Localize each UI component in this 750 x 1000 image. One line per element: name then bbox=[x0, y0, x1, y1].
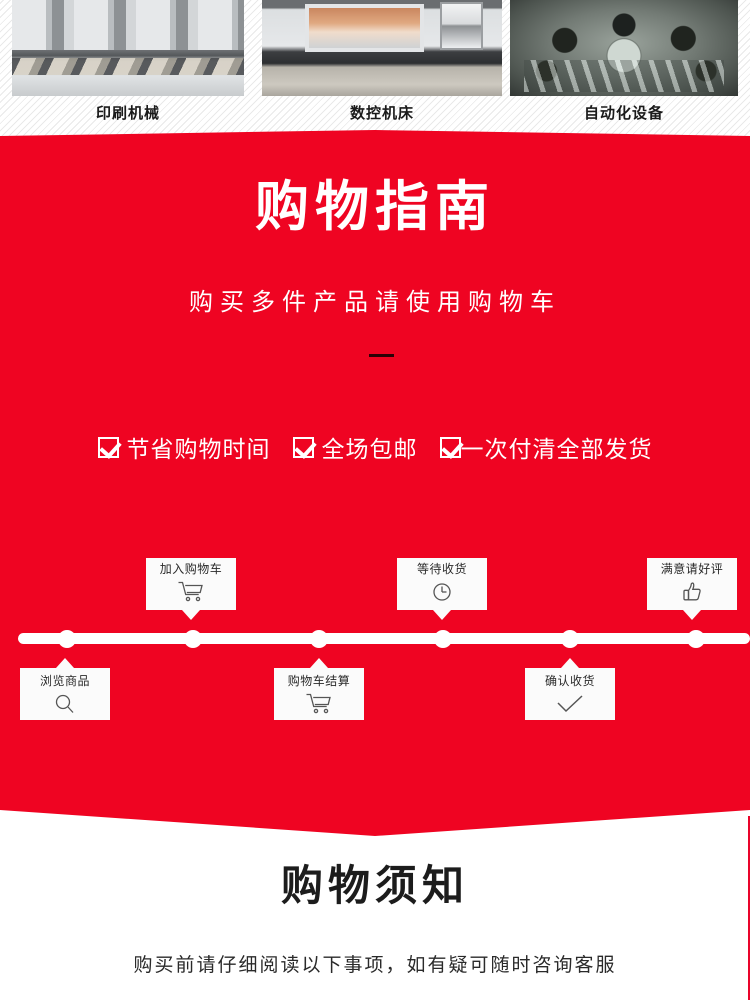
pointer-arrow bbox=[561, 658, 579, 668]
timeline-step-confirm-receipt[interactable]: 确认收货 bbox=[525, 668, 615, 720]
timeline-step-label: 等待收货 bbox=[397, 563, 487, 576]
feature-item-free-shipping: 全场包邮 bbox=[293, 430, 418, 464]
checkmark-icon bbox=[440, 437, 461, 458]
page-subtitle: 购买多件产品请使用购物车 bbox=[0, 288, 750, 317]
timeline-node bbox=[687, 630, 705, 648]
feature-label: 节省购物时间 bbox=[127, 430, 271, 464]
pointer-arrow bbox=[310, 658, 328, 668]
timeline-step-browse-products[interactable]: 浏览商品 bbox=[20, 668, 110, 720]
shopping-cart-icon bbox=[274, 691, 364, 717]
pointer-arrow bbox=[182, 610, 200, 620]
timeline-node bbox=[561, 630, 579, 648]
product-card-printing[interactable]: 印刷机械 bbox=[12, 0, 252, 123]
printing-machinery-photo bbox=[12, 0, 244, 96]
feature-label: 全场包邮 bbox=[322, 430, 418, 464]
product-card-automation[interactable]: 自动化设备 bbox=[510, 0, 750, 123]
pointer-arrow bbox=[433, 610, 451, 620]
timeline-node bbox=[184, 630, 202, 648]
pointer-arrow bbox=[683, 610, 701, 620]
timeline-step-label: 加入购物车 bbox=[146, 563, 236, 576]
timeline-node bbox=[310, 630, 328, 648]
feature-item-save-time: 节省购物时间 bbox=[98, 430, 271, 464]
timeline-step-label: 购物车结算 bbox=[274, 675, 364, 688]
search-icon bbox=[20, 691, 110, 717]
feature-label: 一次付清全部发货 bbox=[461, 430, 653, 464]
pointer-arrow bbox=[56, 658, 74, 668]
product-category-strip: 印刷机械 数控机床 自动化设备 bbox=[0, 0, 750, 140]
notice-title: 购物须知 bbox=[0, 865, 750, 907]
timeline-step-label: 确认收货 bbox=[525, 675, 615, 688]
timeline-step-label: 满意请好评 bbox=[647, 563, 737, 576]
clock-icon bbox=[397, 579, 487, 605]
automation-equipment-photo bbox=[510, 0, 738, 96]
checkmark-icon bbox=[293, 437, 314, 458]
timeline-step-awaiting-delivery[interactable]: 等待收货 bbox=[397, 558, 487, 610]
thumbs-up-icon bbox=[647, 579, 737, 605]
cnc-machine-tool-photo bbox=[262, 0, 502, 96]
timeline-step-label: 浏览商品 bbox=[20, 675, 110, 688]
timeline-step-leave-review[interactable]: 满意请好评 bbox=[647, 558, 737, 610]
timeline-node bbox=[434, 630, 452, 648]
product-card-label: 自动化设备 bbox=[510, 96, 738, 123]
shopping-cart-icon bbox=[146, 579, 236, 605]
divider bbox=[369, 354, 394, 357]
page-title: 购物指南 bbox=[0, 180, 750, 234]
timeline-track bbox=[18, 633, 750, 644]
timeline-node bbox=[58, 630, 76, 648]
checkmark-icon bbox=[98, 437, 119, 458]
product-card-label: 印刷机械 bbox=[12, 96, 244, 123]
feature-item-single-payment: 一次付清全部发货 bbox=[440, 430, 653, 464]
product-card-cnc[interactable]: 数控机床 bbox=[262, 0, 502, 123]
check-icon bbox=[525, 691, 615, 717]
timeline-step-cart-checkout[interactable]: 购物车结算 bbox=[274, 668, 364, 720]
feature-list: 节省购物时间 全场包邮 一次付清全部发货 bbox=[0, 430, 750, 464]
product-card-label: 数控机床 bbox=[262, 96, 502, 123]
notice-subtitle: 购买前请仔细阅读以下事项，如有疑可随时咨询客服 bbox=[0, 950, 750, 977]
timeline-step-add-to-cart[interactable]: 加入购物车 bbox=[146, 558, 236, 610]
